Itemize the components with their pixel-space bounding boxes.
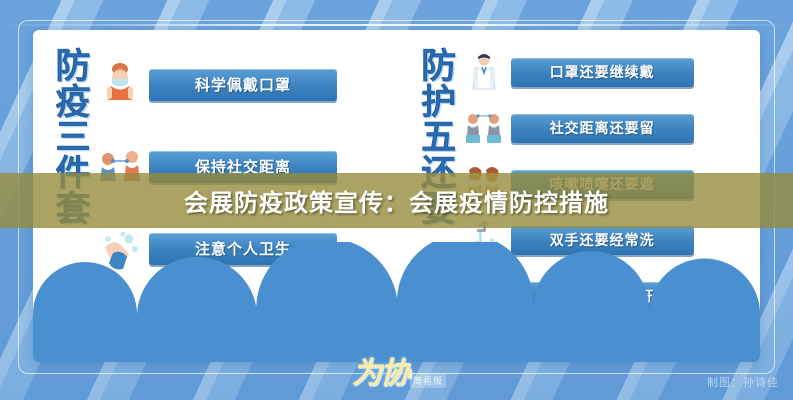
list-item: 科学佩戴口罩 (99, 44, 389, 126)
list-item: 口罩还要继续戴 (465, 44, 750, 100)
doctor-icon (465, 51, 503, 93)
vtitle-char: 五 (421, 121, 456, 157)
vtitle-char: 三 (55, 121, 90, 157)
credit-text: 制图：孙诗佳 (707, 374, 779, 390)
list-item-label: 注意个人卫生 (149, 233, 337, 265)
organization-logo: 为协 简易版 (352, 342, 462, 392)
open-window-icon (465, 275, 503, 317)
vtitle-char: 防 (55, 50, 90, 86)
washing-hands-icon (99, 225, 141, 273)
list-item-label: 社交距离还要留 (511, 114, 694, 143)
logo-sub-text: 简易版 (410, 373, 446, 388)
logo-mark-text: 为协 (352, 348, 408, 392)
list-item-label: 口罩还要继续戴 (511, 58, 694, 87)
vtitle-char: 护 (421, 86, 456, 122)
list-item-label: 双手还要经常洗 (511, 226, 694, 255)
vtitle-char: 疫 (55, 86, 90, 122)
two-people-bench-icon (465, 107, 503, 149)
poster-image: 防 疫 三 件 套 (0, 0, 793, 400)
list-item-label: 科学佩戴口罩 (149, 69, 337, 101)
list-item-label: 窗户还要尽量开 (511, 282, 694, 311)
list-item: 社交距离还要留 (465, 100, 750, 156)
page-title: 会展防疫政策宣传：会展疫情防控措施 (184, 183, 609, 218)
title-overlay-band: 会展防疫政策宣传：会展疫情防控措施 (0, 173, 793, 228)
girl-with-mask-icon (99, 61, 141, 109)
vtitle-char: 防 (421, 50, 456, 86)
list-item: 窗户还要尽量开 (465, 268, 750, 324)
